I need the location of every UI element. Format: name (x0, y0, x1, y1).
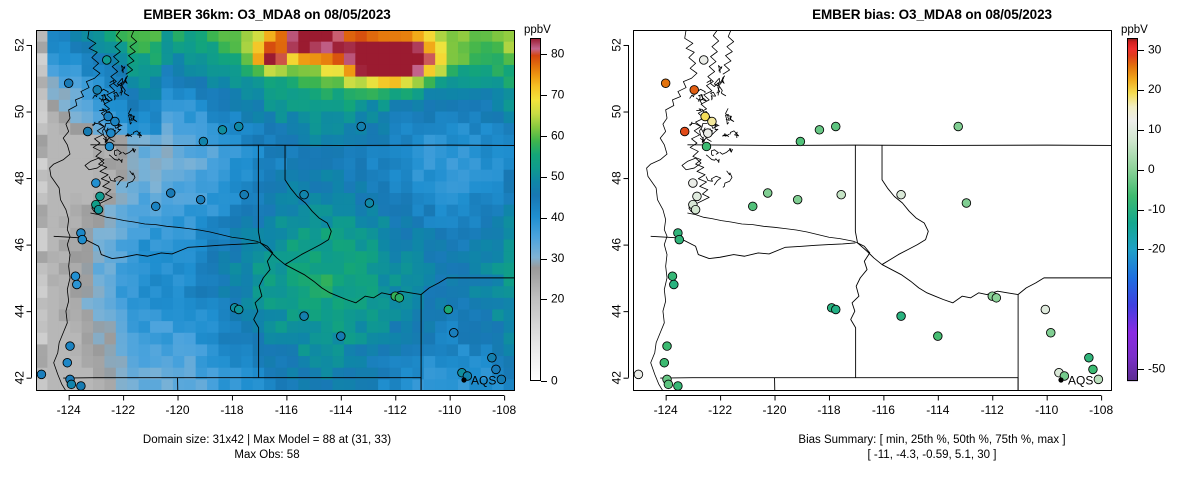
bias-colorbar (1127, 32, 1184, 389)
model-caption-line1: Domain size: 31x42 | Max Model = 88 at (… (0, 433, 567, 448)
panel-model: EMBER 36km: O3_MDA8 on 08/05/2023 ppbV D… (0, 0, 600, 479)
bias-caption-line1: Bias Summary: [ min, 25th %, 50th %, 75t… (632, 433, 1200, 448)
bias-map-canvas[interactable] (633, 30, 1112, 391)
bias-caption-line2: [ -11, -4.3, -0.59, 5.1, 30 ] (632, 448, 1200, 463)
panel-bias: EMBER bias: O3_MDA8 on 08/05/2023 ppbV B… (600, 0, 1200, 479)
model-map-canvas[interactable] (36, 30, 515, 391)
model-colorbar (530, 32, 587, 389)
model-caption-line2: Max Obs: 58 (0, 448, 567, 463)
panel-model-title: EMBER 36km: O3_MDA8 on 08/05/2023 (0, 7, 567, 22)
panel-bias-title: EMBER bias: O3_MDA8 on 08/05/2023 (632, 7, 1200, 22)
bias-colorbar-unit: ppbV (1121, 24, 1148, 36)
figure-root: EMBER 36km: O3_MDA8 on 08/05/2023 ppbV D… (0, 0, 1200, 479)
model-caption: Domain size: 31x42 | Max Model = 88 at (… (0, 433, 567, 463)
model-colorbar-unit: ppbV (524, 24, 551, 36)
bias-caption: Bias Summary: [ min, 25th %, 50th %, 75t… (632, 433, 1200, 463)
